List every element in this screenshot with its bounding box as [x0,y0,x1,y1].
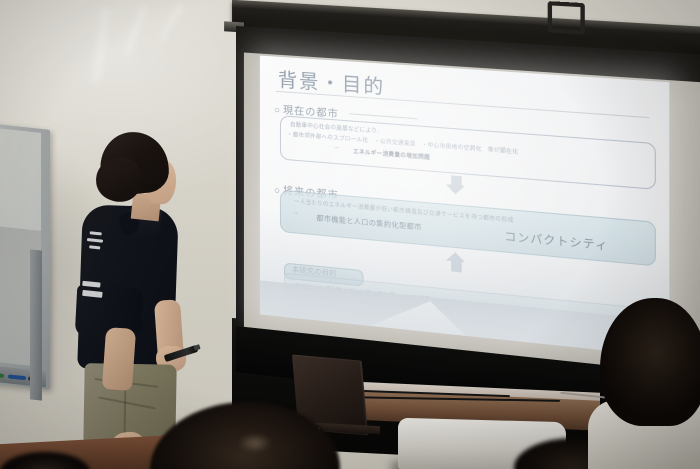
whiteboard-stand [30,249,42,400]
screen-mount-bracket [548,1,585,35]
presenter-left-arm [102,327,136,391]
marker-green-icon [0,372,4,378]
audience-front-left-highlight [232,430,278,456]
laser-pointer-tip [193,344,200,351]
section1-head-rule [349,113,417,119]
presentation-photo-scene: 背景・目的 ○現在の都市 自動車中心社会の進展などにより、 ・都市郊外部へのスプ… [0,0,700,469]
whiteboard [0,122,50,390]
section2-arrow-icon: → [292,209,299,217]
section1-arrow-icon: → [333,143,340,151]
audience-right [600,298,700,426]
bullet-ring-icon: ○ [274,105,281,117]
projected-slide: 背景・目的 ○現在の都市 自動車中心社会の進展などにより、 ・都市郊外部へのスプ… [260,56,669,357]
marker-blue-icon [8,374,26,380]
